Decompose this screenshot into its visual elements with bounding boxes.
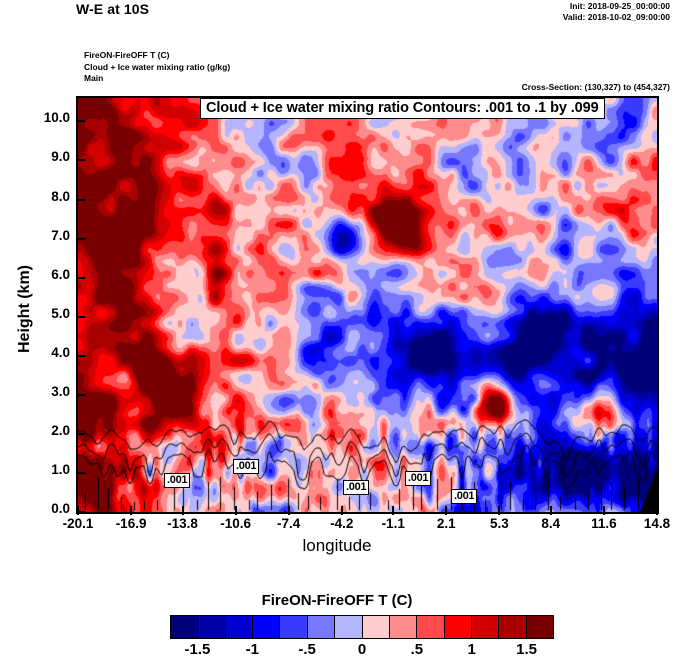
x-tick-label: -20.1 (48, 516, 108, 531)
colorbar-cell (527, 616, 553, 638)
subtitle-domain: Main (84, 73, 230, 85)
colorbar-tick-labels: -1.5-1-.50.511.5 (0, 641, 674, 663)
x-tick-mark (550, 506, 552, 515)
y-axis-title: Height (km) (16, 239, 34, 379)
y-tick-label: 1.0 (24, 462, 70, 477)
x-tick-mark (341, 506, 343, 515)
y-tick-mark (76, 472, 85, 474)
colorbar-cell (335, 616, 362, 638)
y-tick-label: 3.0 (24, 384, 70, 399)
y-tick-mark (76, 120, 85, 122)
colorbar-cell (390, 616, 417, 638)
x-tick-mark (77, 506, 79, 515)
colorbar-tick-label: .5 (387, 641, 447, 658)
cross-section-label: Cross-Section: (130,327) to (454,327) (522, 82, 670, 92)
y-tick-mark (76, 238, 85, 240)
contour-fill-canvas (78, 98, 657, 512)
x-tick-mark (235, 506, 237, 515)
colorbar-tick-label: 0 (332, 641, 392, 658)
x-tick-label: 2.1 (416, 516, 476, 531)
x-tick-label: 8.4 (521, 516, 581, 531)
x-axis-title: longitude (0, 536, 674, 556)
x-tick-mark (288, 506, 290, 515)
colorbar (170, 615, 554, 639)
y-tick-mark (76, 355, 85, 357)
page-title: W-E at 10S (76, 1, 149, 17)
contour-value-label: .001 (164, 473, 190, 488)
x-axis-tick-marks (0, 506, 674, 516)
x-tick-mark (498, 506, 500, 515)
contour-value-label: .001 (451, 489, 477, 504)
colorbar-tick-label: 1 (442, 641, 502, 658)
x-tick-label: -1.1 (363, 516, 423, 531)
x-tick-mark (603, 506, 605, 515)
colorbar-cell (308, 616, 335, 638)
subtitle-block: FireON-FireOFF T (C) Cloud + Ice water m… (84, 50, 230, 85)
x-tick-mark (656, 506, 658, 515)
y-tick-mark (76, 394, 85, 396)
x-axis-tick-labels: -20.1-16.9-13.8-10.6-7.4-4.2-1.12.15.38.… (0, 516, 674, 536)
x-tick-label: -10.6 (206, 516, 266, 531)
contour-info-banner: Cloud + Ice water mixing ratio Contours:… (200, 98, 605, 119)
colorbar-title: FireON-FireOFF T (C) (0, 592, 674, 609)
contour-value-label: .001 (343, 480, 369, 495)
colorbar-tick-label: 1.5 (497, 641, 557, 658)
y-tick-label: 10.0 (24, 110, 70, 125)
contour-value-label: .001 (233, 459, 259, 474)
x-tick-label: -13.8 (153, 516, 213, 531)
colorbar-cell (171, 616, 198, 638)
contour-value-label: .001 (405, 471, 431, 486)
subtitle-overlay-variable: Cloud + Ice water mixing ratio (g/kg) (84, 62, 230, 74)
colorbar-cell (280, 616, 307, 638)
init-time-label: Init: 2018-09-25_00:00:00 (563, 1, 670, 12)
cross-section-plot: .001.001.001.001.001 (76, 96, 659, 514)
x-tick-label: -7.4 (259, 516, 319, 531)
colorbar-cell (198, 616, 225, 638)
colorbar-cell (226, 616, 253, 638)
subtitle-variable: FireON-FireOFF T (C) (84, 50, 230, 62)
colorbar-tick-label: -1.5 (167, 641, 227, 658)
colorbar-cell (472, 616, 499, 638)
colorbar-cell (499, 616, 526, 638)
valid-time-label: Valid: 2018-10-02_09:00:00 (563, 12, 670, 23)
y-tick-label: 9.0 (24, 149, 70, 164)
x-tick-mark (130, 506, 132, 515)
x-tick-label: 11.6 (574, 516, 634, 531)
colorbar-cell (445, 616, 472, 638)
colorbar-cell (417, 616, 444, 638)
x-tick-mark (392, 506, 394, 515)
colorbar-cell (363, 616, 390, 638)
y-tick-mark (76, 433, 85, 435)
y-tick-label: 8.0 (24, 189, 70, 204)
y-tick-label: 2.0 (24, 423, 70, 438)
time-stamp-block: Init: 2018-09-25_00:00:00 Valid: 2018-10… (563, 1, 670, 23)
x-tick-mark (445, 506, 447, 515)
colorbar-tick-label: -.5 (277, 641, 337, 658)
y-tick-mark (76, 316, 85, 318)
y-tick-mark (76, 277, 85, 279)
y-tick-mark (76, 159, 85, 161)
colorbar-cell (253, 616, 280, 638)
x-tick-mark (182, 506, 184, 515)
x-tick-label: 14.8 (627, 516, 674, 531)
y-tick-mark (76, 199, 85, 201)
colorbar-tick-label: -1 (222, 641, 282, 658)
